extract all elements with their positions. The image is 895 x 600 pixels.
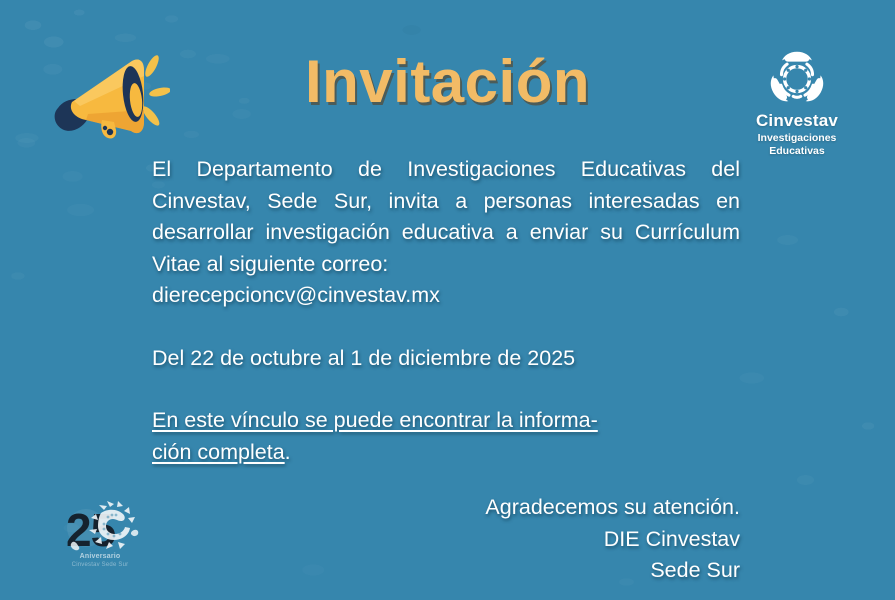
more-info-period: . [285, 440, 291, 464]
more-info-link-continued[interactable]: ción completa [152, 440, 285, 464]
more-info-link-paragraph: En este vínculo se puede encontrar la in… [152, 405, 740, 468]
contact-email: dierecepcioncv@cinvestav.mx [152, 280, 740, 312]
closing-signature: Agradecemos su atención. DIE Cinvestav S… [152, 492, 740, 587]
closing-line-campus: Sede Sur [152, 555, 740, 587]
more-info-link-tail: ción completa. [152, 437, 740, 469]
invitation-paragraph: El Departamento de Investigaciones Educa… [152, 154, 740, 312]
anniversary-25-icon: 25 [52, 500, 148, 574]
cinvestav-subtitle: Investigaciones Educativas [737, 132, 857, 158]
more-info-link[interactable]: En este vínculo se puede encontrar la in… [152, 408, 598, 432]
cinvestav-subtitle-line1: Investigaciones [758, 132, 837, 144]
cinvestav-logo: Cinvestav Investigaciones Educativas [737, 48, 857, 158]
cinvestav-subtitle-line2: Educativas [769, 145, 824, 157]
anniversary-label-text: Aniversario [80, 553, 121, 560]
invitation-body: El Departamento de Investigaciones Educa… [152, 154, 740, 587]
submission-period: Del 22 de octubre al 1 de diciembre de 2… [152, 343, 740, 375]
cinvestav-emblem-icon [766, 48, 828, 110]
anniversary-sublabel: Cinvestav Sede Sur [52, 562, 148, 570]
closing-line-thanks: Agradecemos su atención. [152, 492, 740, 524]
closing-line-org: DIE Cinvestav [152, 524, 740, 556]
invitation-poster: Invitación [0, 0, 895, 600]
invitation-paragraph-text: El Departamento de Investigaciones Educa… [152, 157, 740, 276]
cinvestav-wordmark: Cinvestav [737, 111, 857, 131]
